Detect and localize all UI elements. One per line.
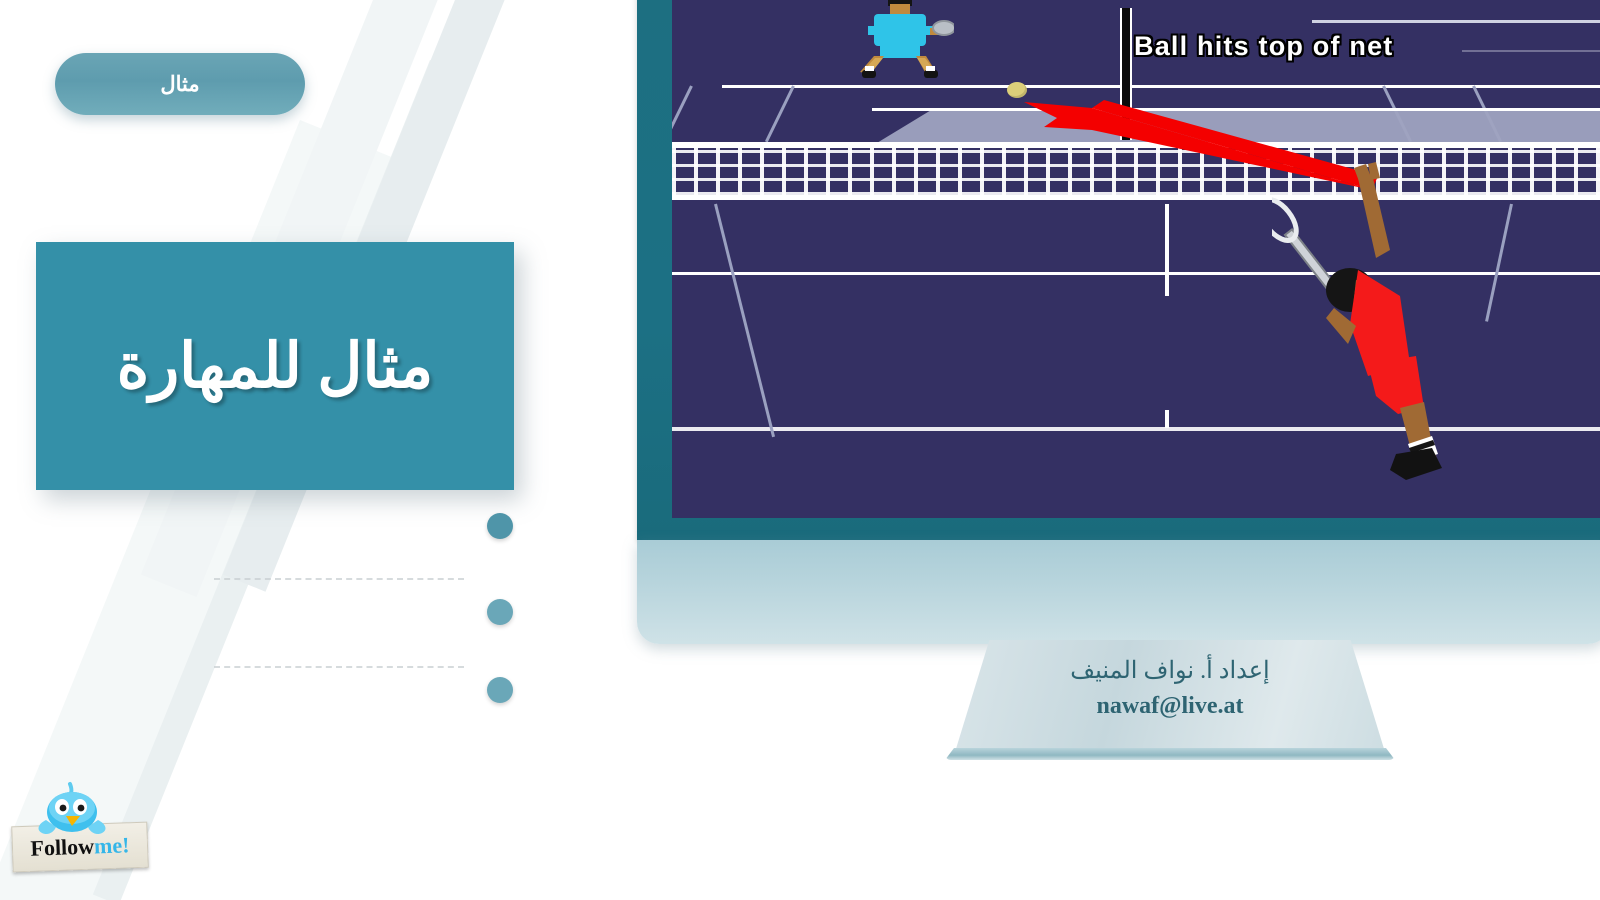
monitor-chin <box>637 540 1600 644</box>
court-far-singles-left <box>765 85 795 142</box>
court-near-center-line <box>1165 204 1169 296</box>
author-email: nawaf@live.at <box>1097 693 1244 720</box>
court-upper-guide-line <box>1312 20 1600 23</box>
bullet-point-1 <box>487 513 513 539</box>
monitor-stand-base <box>945 748 1395 760</box>
tennis-court-scene: Ball hits top of net <box>672 0 1600 518</box>
divider-line-2 <box>214 666 464 668</box>
net-post <box>1120 8 1132 140</box>
court-service-box-shade <box>872 110 1600 146</box>
annotation-ball-hits-net: Ball hits top of net <box>1134 31 1394 62</box>
twitter-bird-icon <box>32 780 112 842</box>
twitter-follow-badge[interactable]: Followme! <box>6 772 156 882</box>
court-center-mark <box>1165 410 1169 428</box>
bullet-point-3 <box>487 677 513 703</box>
divider-line-1 <box>214 578 464 580</box>
left-content-panel: مثال مثال للمهارة <box>0 0 630 900</box>
author-credit: إعداد أ. نواف المنيف nawaf@live.at <box>955 656 1385 720</box>
monitor-screen[interactable]: Ball hits top of net <box>672 0 1600 518</box>
monitor-mockup: Ball hits top of net <box>630 0 1600 648</box>
slide-title-block: مثال للمهارة <box>36 242 514 490</box>
court-upper-guide-line-2 <box>1462 50 1600 52</box>
section-chip-label: مثال <box>160 72 199 97</box>
court-far-left-sideline <box>672 85 693 142</box>
author-credit-arabic: إعداد أ. نواف المنيف <box>1070 656 1269 685</box>
court-service-line <box>872 108 1600 111</box>
player-near-red <box>1272 158 1472 488</box>
court-near-right-sideline <box>1485 204 1513 322</box>
court-near-left-sideline <box>714 204 775 438</box>
bullet-point-2 <box>487 599 513 625</box>
monitor-stand: إعداد أ. نواف المنيف nawaf@live.at <box>955 640 1385 752</box>
tennis-ball <box>1007 82 1027 98</box>
player-far-blue <box>844 0 954 81</box>
monitor-bezel: Ball hits top of net <box>637 0 1600 540</box>
court-far-baseline <box>722 85 1600 88</box>
section-chip[interactable]: مثال <box>55 53 305 115</box>
page-title: مثال للمهارة <box>117 329 434 403</box>
